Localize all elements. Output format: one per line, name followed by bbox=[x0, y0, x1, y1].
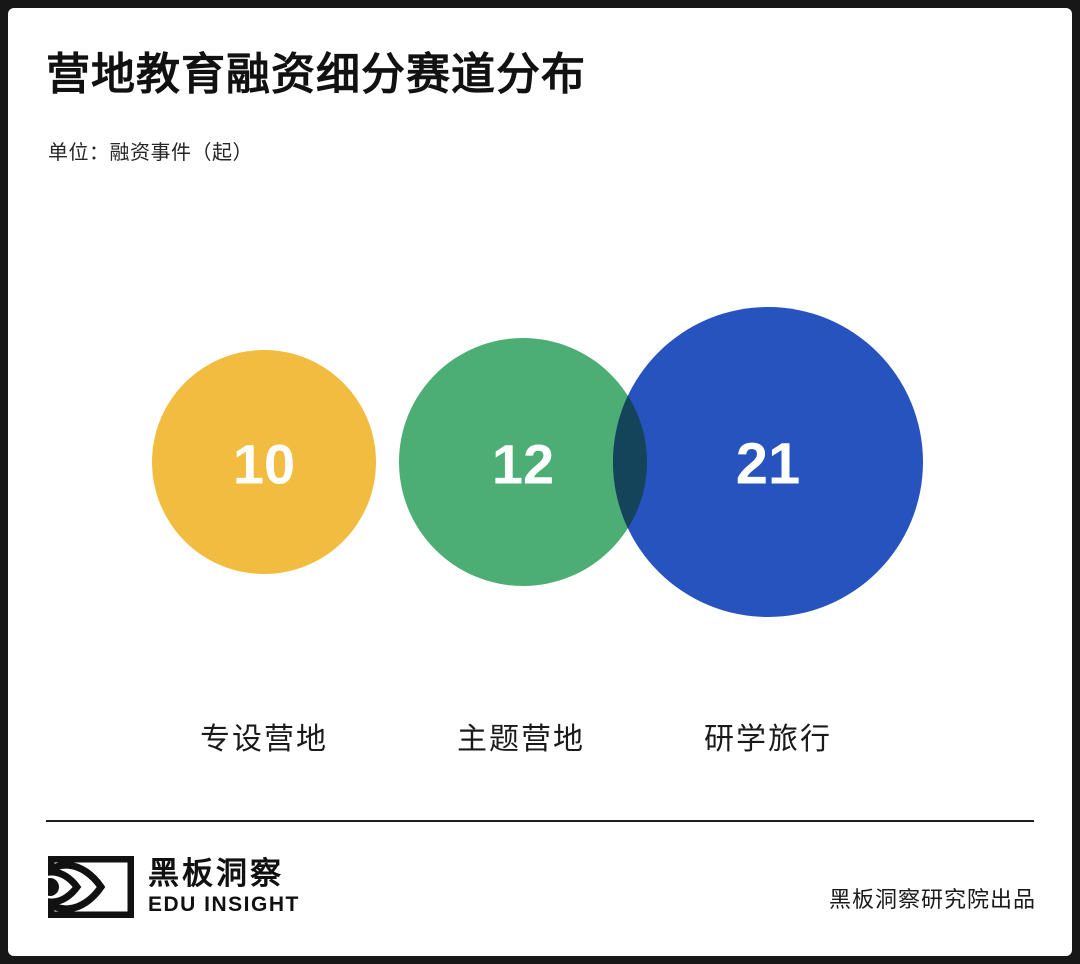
eye-logo-icon bbox=[48, 856, 134, 918]
brand-name-cn: 黑板洞察 bbox=[148, 858, 300, 891]
footer-credit: 黑板洞察研究院出品 bbox=[829, 882, 1036, 914]
category-label-0: 专设营地 bbox=[200, 714, 328, 758]
venn-diagram: 10 12 21 专设营地 主题营地 研学旅行 bbox=[8, 8, 1072, 768]
brand-name-en: EDU INSIGHT bbox=[148, 893, 300, 916]
venn-value-green: 12 bbox=[492, 433, 554, 496]
venn-value-blue: 21 bbox=[736, 432, 801, 497]
outer-frame: 营地教育融资细分赛道分布 单位：融资事件（起） bbox=[0, 0, 1080, 964]
brand-logo: 黑板洞察 EDU INSIGHT bbox=[48, 856, 300, 918]
brand-logo-text: 黑板洞察 EDU INSIGHT bbox=[148, 858, 300, 917]
infographic-card: 营地教育融资细分赛道分布 单位：融资事件（起） bbox=[8, 8, 1072, 956]
category-label-2: 研学旅行 bbox=[704, 714, 832, 758]
footer-divider bbox=[46, 820, 1034, 822]
category-label-1: 主题营地 bbox=[457, 714, 585, 758]
venn-value-yellow: 10 bbox=[233, 433, 295, 496]
